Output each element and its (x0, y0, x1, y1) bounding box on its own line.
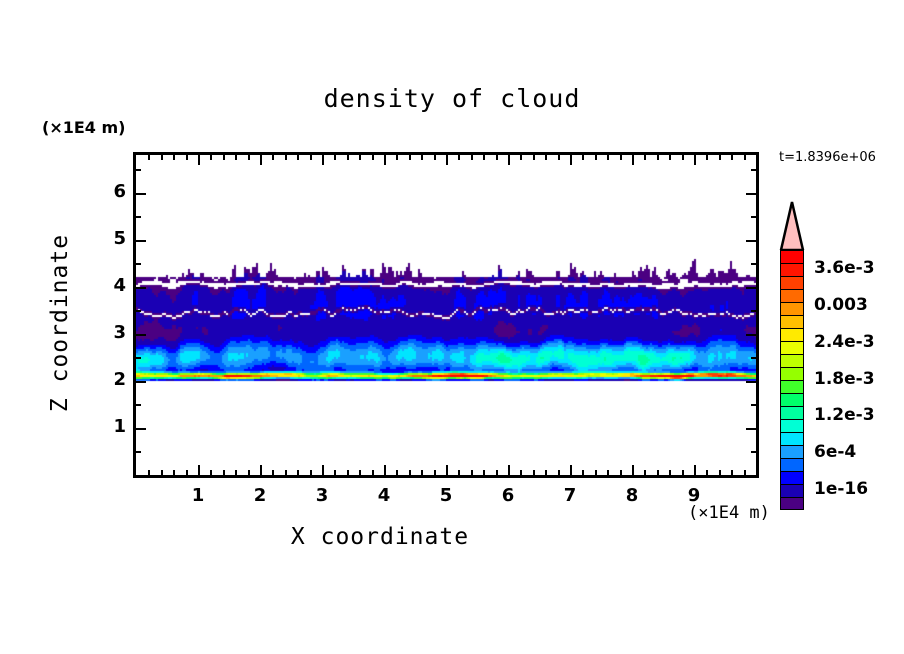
x-tick-top (396, 155, 398, 160)
x-tick-top (483, 155, 485, 160)
x-tick-top (421, 155, 423, 160)
x-tick (235, 470, 237, 475)
y-tick (136, 216, 141, 218)
x-tick-top (198, 155, 200, 165)
x-tick (359, 470, 361, 475)
x-tick (396, 470, 398, 475)
x-tick-top (620, 155, 622, 160)
x-tick (632, 465, 634, 475)
x-tick-top (570, 155, 572, 165)
x-tick (384, 465, 386, 475)
x-tick-top (694, 155, 696, 165)
y-tick-right (746, 334, 756, 336)
colorbar-tick-label: 1e-16 (814, 479, 868, 499)
x-tick (285, 470, 287, 475)
y-tick (136, 404, 141, 406)
y-tick-right (751, 169, 756, 171)
y-tick (136, 381, 146, 383)
colorbar-tick-label: 1.2e-3 (814, 405, 875, 425)
colorbar-band (780, 458, 804, 471)
x-tick (731, 470, 733, 475)
x-tick (434, 470, 436, 475)
y-tick (136, 334, 146, 336)
x-tick-top (260, 155, 262, 165)
colorbar-band (780, 471, 804, 484)
colorbar-band (780, 497, 804, 510)
colorbar-band (780, 367, 804, 380)
y-tick-label: 3 (98, 322, 126, 343)
page-title: density of cloud (0, 84, 904, 113)
contour-plot-area (136, 155, 756, 475)
y-tick (136, 240, 146, 242)
x-tick-top (210, 155, 212, 160)
plot-frame-right (756, 152, 759, 478)
z-axis-title: Z coordinate (47, 203, 73, 443)
x-tick-top (545, 155, 547, 160)
x-tick-top (322, 155, 324, 165)
x-tick (508, 465, 510, 475)
y-tick (136, 193, 146, 195)
x-tick-top (359, 155, 361, 160)
y-tick-right (751, 451, 756, 453)
y-tick (136, 428, 146, 430)
x-tick (719, 470, 721, 475)
x-tick (409, 470, 411, 475)
x-tick (533, 470, 535, 475)
x-tick (347, 470, 349, 475)
timestamp-annotation: t=1.8396e+06 (779, 150, 876, 165)
x-tick-top (297, 155, 299, 160)
x-tick-label: 8 (612, 485, 652, 506)
colorbar-band (780, 393, 804, 406)
y-tick-label: 6 (98, 181, 126, 202)
x-tick (458, 470, 460, 475)
y-tick (136, 287, 146, 289)
colorbar: 3.6e-30.0032.4e-31.8e-31.2e-36e-41e-16 (778, 200, 808, 480)
x-tick-top (607, 155, 609, 160)
x-tick (694, 465, 696, 475)
x-tick (669, 470, 671, 475)
colorbar-tick-label: 6e-4 (814, 442, 856, 462)
y-tick-right (746, 287, 756, 289)
x-tick (595, 470, 597, 475)
y-tick-right (746, 240, 756, 242)
y-tick-right (746, 381, 756, 383)
x-tick (248, 470, 250, 475)
x-tick (744, 470, 746, 475)
x-tick-top (372, 155, 374, 160)
x-tick (682, 470, 684, 475)
x-tick-label: 4 (364, 485, 404, 506)
x-tick-top (582, 155, 584, 160)
y-tick-right (751, 310, 756, 312)
x-tick-top (706, 155, 708, 160)
colorbar-band (780, 354, 804, 367)
x-tick-top (347, 155, 349, 160)
colorbar-band (780, 445, 804, 458)
y-tick-label: 1 (98, 416, 126, 437)
x-tick-label: 6 (488, 485, 528, 506)
x-tick (520, 470, 522, 475)
x-tick-top (595, 155, 597, 160)
y-tick-label: 4 (98, 275, 126, 296)
y-tick-right (746, 193, 756, 195)
colorbar-band (780, 276, 804, 289)
colorbar-band (780, 406, 804, 419)
colorbar-band (780, 302, 804, 315)
x-tick (620, 470, 622, 475)
x-tick-top (446, 155, 448, 165)
colorbar-band (780, 341, 804, 354)
x-tick (607, 470, 609, 475)
plot-frame-bottom (133, 475, 759, 478)
colorbar-band (780, 432, 804, 445)
x-tick (148, 470, 150, 475)
x-tick (446, 465, 448, 475)
x-tick (558, 470, 560, 475)
x-tick-top (186, 155, 188, 160)
y-tick-right (746, 428, 756, 430)
colorbar-band (780, 419, 804, 432)
x-tick (471, 470, 473, 475)
x-tick (334, 470, 336, 475)
x-tick-top (384, 155, 386, 165)
colorbar-tick-label: 2.4e-3 (814, 332, 875, 352)
y-tick-right (751, 357, 756, 359)
x-tick (706, 470, 708, 475)
colorbar-band (780, 315, 804, 328)
x-tick (198, 465, 200, 475)
x-tick (173, 470, 175, 475)
x-tick (372, 470, 374, 475)
colorbar-band (780, 263, 804, 276)
colorbar-band (780, 289, 804, 302)
x-tick (570, 465, 572, 475)
x-tick-top (173, 155, 175, 160)
x-tick-top (632, 155, 634, 165)
colorbar-over-arrow-icon (778, 200, 806, 250)
x-tick (272, 470, 274, 475)
x-tick (483, 470, 485, 475)
x-tick-label: 3 (302, 485, 342, 506)
y-tick-label: 2 (98, 369, 126, 390)
x-tick-top (434, 155, 436, 160)
x-tick (186, 470, 188, 475)
x-tick-top (310, 155, 312, 160)
x-tick-top (471, 155, 473, 160)
x-tick-top (161, 155, 163, 160)
x-tick-label: 2 (240, 485, 280, 506)
y-tick (136, 357, 141, 359)
x-tick (545, 470, 547, 475)
x-tick-label: 1 (178, 485, 218, 506)
colorbar-band (780, 484, 804, 497)
colorbar-bands (780, 250, 804, 510)
y-axis-unit-label: (×1E4 m) (42, 118, 125, 137)
x-tick-top (272, 155, 274, 160)
x-tick (161, 470, 163, 475)
colorbar-tick-label: 0.003 (814, 295, 868, 315)
x-tick-label: 7 (550, 485, 590, 506)
density-heatmap-canvas (136, 155, 756, 475)
x-tick-top (285, 155, 287, 160)
x-tick (582, 470, 584, 475)
y-tick-right (751, 404, 756, 406)
x-tick-top (644, 155, 646, 160)
x-tick-top (520, 155, 522, 160)
x-tick (310, 470, 312, 475)
x-tick (297, 470, 299, 475)
colorbar-band (780, 380, 804, 393)
x-tick-top (409, 155, 411, 160)
y-tick (136, 451, 141, 453)
x-tick-top (235, 155, 237, 160)
x-tick-top (508, 155, 510, 165)
colorbar-band (780, 250, 804, 263)
x-tick (210, 470, 212, 475)
x-tick (322, 465, 324, 475)
x-tick-top (558, 155, 560, 160)
x-tick (496, 470, 498, 475)
colorbar-band (780, 328, 804, 341)
y-tick (136, 169, 141, 171)
x-tick-top (731, 155, 733, 160)
x-tick-top (496, 155, 498, 160)
x-tick-top (682, 155, 684, 160)
colorbar-tick-label: 1.8e-3 (814, 369, 875, 389)
x-axis-unit-label: (×1E4 m) (688, 503, 770, 523)
x-tick-top (334, 155, 336, 160)
y-tick-label: 5 (98, 228, 126, 249)
x-axis-title: X coordinate (0, 524, 760, 550)
x-tick (657, 470, 659, 475)
x-tick-top (248, 155, 250, 160)
x-tick (260, 465, 262, 475)
x-tick-top (458, 155, 460, 160)
y-tick (136, 263, 141, 265)
x-tick-top (148, 155, 150, 160)
colorbar-tick-label: 3.6e-3 (814, 258, 875, 278)
x-tick-top (533, 155, 535, 160)
x-tick (644, 470, 646, 475)
y-tick-right (751, 216, 756, 218)
x-tick-top (657, 155, 659, 160)
x-tick-label: 9 (674, 485, 714, 506)
y-tick (136, 310, 141, 312)
x-tick-top (223, 155, 225, 160)
x-tick-label: 5 (426, 485, 466, 506)
x-tick-top (669, 155, 671, 160)
x-tick (421, 470, 423, 475)
x-tick-top (719, 155, 721, 160)
x-tick-top (744, 155, 746, 160)
y-tick-right (751, 263, 756, 265)
x-tick (223, 470, 225, 475)
